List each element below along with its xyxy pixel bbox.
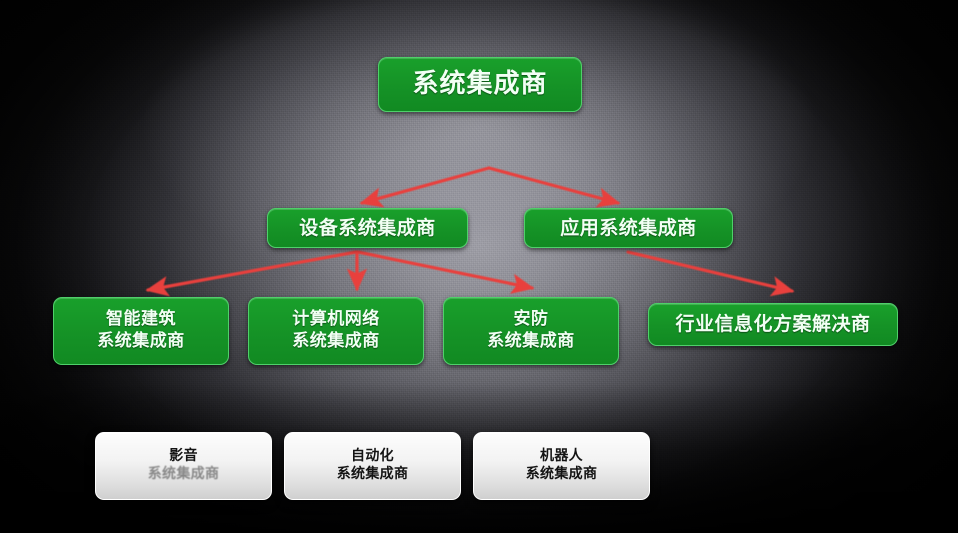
node-computer-network-si[interactable]: 计算机网络 系统集成商: [248, 297, 424, 365]
node-root[interactable]: 系统集成商: [378, 57, 582, 112]
diagram-canvas: 系统集成商 设备系统集成商 应用系统集成商 智能建筑 系统集成商 计算机网络 系…: [0, 0, 958, 533]
card-robotics-si-label-line2: 系统集成商: [526, 466, 598, 484]
node-security-si-label-line1: 安防: [514, 309, 549, 331]
node-smart-building-si-label-line2: 系统集成商: [97, 331, 185, 353]
card-robotics-si-label-line1: 机器人: [540, 448, 583, 466]
arrow-equipment-to-smart-building: [148, 252, 356, 290]
node-security-si-label-line2: 系统集成商: [487, 331, 575, 353]
arrow-equipment-to-security: [358, 252, 532, 288]
node-root-label: 系统集成商: [412, 68, 547, 101]
node-computer-network-si-label-line2: 系统集成商: [292, 331, 380, 353]
arrow-application-to-industry: [628, 252, 792, 291]
card-automation-si-label-line2: 系统集成商: [337, 466, 409, 484]
node-computer-network-si-label-line1: 计算机网络: [292, 309, 380, 331]
card-av-si[interactable]: 影音 系统集成商: [95, 432, 272, 500]
arrow-root-to-application: [489, 168, 618, 203]
card-automation-si[interactable]: 自动化 系统集成商: [284, 432, 461, 500]
node-smart-building-si-label-line1: 智能建筑: [106, 309, 176, 331]
card-automation-si-label-line1: 自动化: [351, 448, 394, 466]
node-smart-building-si[interactable]: 智能建筑 系统集成商: [53, 297, 229, 365]
card-av-si-label-line1: 影音: [169, 448, 198, 466]
card-robotics-si[interactable]: 机器人 系统集成商: [473, 432, 650, 500]
arrow-root-to-equipment: [362, 168, 489, 203]
node-security-si[interactable]: 安防 系统集成商: [443, 297, 619, 365]
node-industry-informatization-label: 行业信息化方案解决商: [675, 312, 870, 336]
node-application-si-label: 应用系统集成商: [560, 216, 697, 240]
card-av-si-label-line2: 系统集成商: [148, 466, 220, 484]
node-equipment-si-label: 设备系统集成商: [299, 216, 436, 240]
node-application-si[interactable]: 应用系统集成商: [524, 208, 733, 248]
node-equipment-si[interactable]: 设备系统集成商: [267, 208, 468, 248]
node-industry-informatization[interactable]: 行业信息化方案解决商: [648, 303, 898, 346]
